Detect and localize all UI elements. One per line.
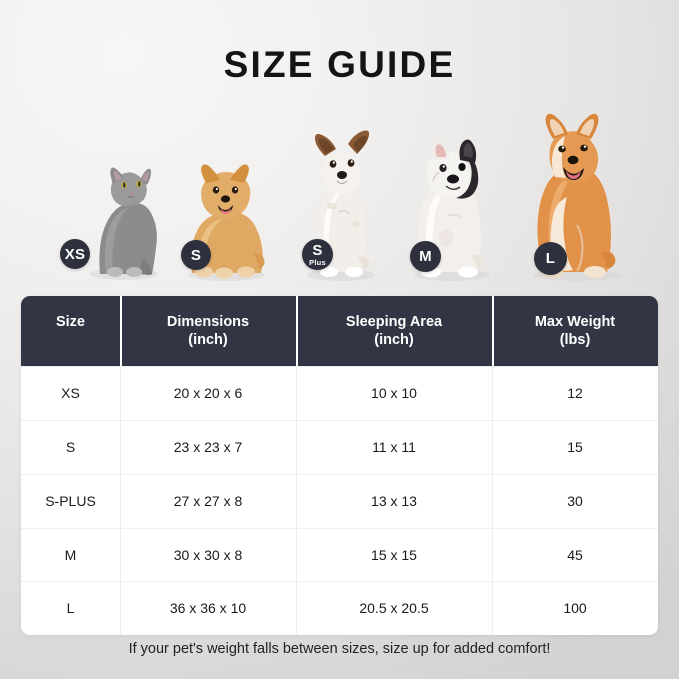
- animal-lineup: XS: [0, 82, 679, 282]
- table-row: S-PLUS 27 x 27 x 8 13 x 13 30: [21, 474, 658, 528]
- size-badge-label: M: [419, 249, 432, 264]
- cell-sleeping-area: 15 x 15: [296, 529, 492, 582]
- cell-dimensions: 36 x 36 x 10: [120, 582, 296, 635]
- column-header-dimensions: Dimensions (inch): [120, 296, 296, 366]
- animal-figure-s: S: [172, 157, 278, 282]
- size-badge-s: S: [181, 240, 211, 270]
- column-header-size: Size: [21, 296, 120, 366]
- cell-sleeping-area: 13 x 13: [296, 475, 492, 528]
- cell-max-weight: 12: [492, 367, 658, 420]
- cell-dimensions: 27 x 27 x 8: [120, 475, 296, 528]
- cell-dimensions: 23 x 23 x 7: [120, 421, 296, 474]
- size-badge-l: L: [534, 242, 567, 275]
- cell-size: S-PLUS: [21, 475, 120, 528]
- table-row: XS 20 x 20 x 6 10 x 10 12: [21, 366, 658, 420]
- table-header-row: Size Dimensions (inch) Sleeping Area (in…: [21, 296, 658, 366]
- cell-size: L: [21, 582, 120, 635]
- column-header-line1: Dimensions: [124, 313, 292, 331]
- cell-sleeping-area: 11 x 11: [296, 421, 492, 474]
- cell-sleeping-area: 10 x 10: [296, 367, 492, 420]
- british-shorthair-cat-icon: [72, 162, 172, 282]
- size-badge-sublabel: Plus: [309, 259, 326, 267]
- animal-figure-l: L: [515, 97, 639, 282]
- column-header-sleeping-area: Sleeping Area (inch): [296, 296, 492, 366]
- footer-note: If your pet's weight falls between sizes…: [0, 641, 679, 657]
- column-header-line2: (inch): [300, 331, 488, 349]
- column-header-line2: (lbs): [496, 331, 654, 349]
- size-guide-page: SIZE GUIDE: [0, 0, 679, 679]
- animal-figure-xs: XS: [72, 162, 172, 282]
- size-badge-label: L: [546, 251, 555, 266]
- animal-figure-m: M: [398, 120, 506, 282]
- cell-dimensions: 20 x 20 x 6: [120, 367, 296, 420]
- size-badge-label: S: [191, 248, 201, 263]
- page-title: SIZE GUIDE: [0, 44, 679, 86]
- size-badge-s-plus: S Plus: [302, 239, 333, 270]
- size-badge-label: XS: [65, 247, 86, 262]
- table-row: L 36 x 36 x 10 20.5 x 20.5 100: [21, 581, 658, 635]
- size-badge-xs: XS: [60, 239, 90, 269]
- cell-sleeping-area: 20.5 x 20.5: [296, 582, 492, 635]
- cell-max-weight: 15: [492, 421, 658, 474]
- table-row: S 23 x 23 x 7 11 x 11 15: [21, 420, 658, 474]
- cell-max-weight: 45: [492, 529, 658, 582]
- cell-size: S: [21, 421, 120, 474]
- size-badge-label: S: [312, 243, 322, 258]
- cell-size: M: [21, 529, 120, 582]
- cell-dimensions: 30 x 30 x 8: [120, 529, 296, 582]
- column-header-line1: Max Weight: [496, 313, 654, 331]
- table-row: M 30 x 30 x 8 15 x 15 45: [21, 528, 658, 582]
- column-header-max-weight: Max Weight (lbs): [492, 296, 658, 366]
- size-table: Size Dimensions (inch) Sleeping Area (in…: [21, 296, 658, 635]
- cell-max-weight: 100: [492, 582, 658, 635]
- animal-figure-s-plus: S Plus: [292, 120, 390, 282]
- column-header-line1: Sleeping Area: [300, 313, 488, 331]
- cell-size: XS: [21, 367, 120, 420]
- cell-max-weight: 30: [492, 475, 658, 528]
- size-badge-m: M: [410, 241, 441, 272]
- column-header-line1: Size: [25, 313, 116, 331]
- column-header-line2: (inch): [124, 331, 292, 349]
